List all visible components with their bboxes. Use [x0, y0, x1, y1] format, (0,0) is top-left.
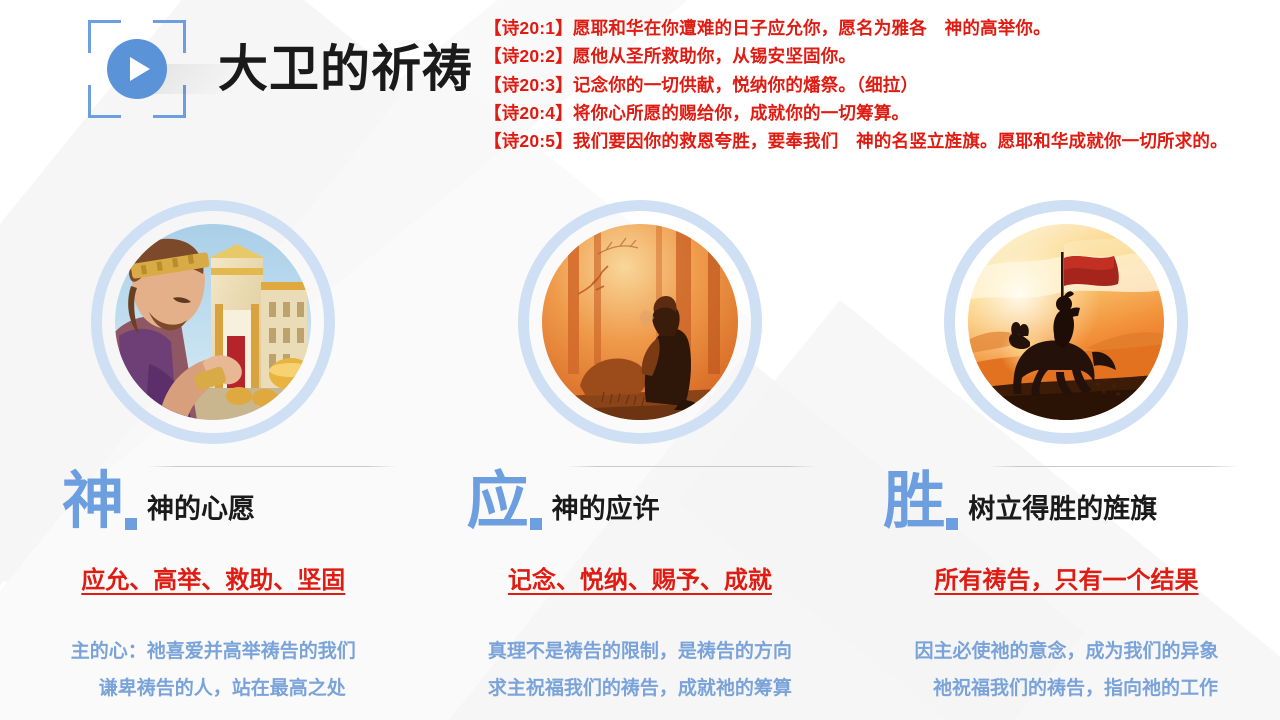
big-char-dot	[946, 518, 958, 530]
slide-canvas: 大卫的祈祷 【诗20:1】愿耶和华在你遭难的日子应允你，愿名为雅各 神的高举你。…	[0, 0, 1280, 720]
scripture-verse: 【诗20:1】愿耶和华在你遭难的日子应允你，愿名为雅各 神的高举你。	[484, 14, 1254, 42]
caption-ying: 应 神的应许	[427, 473, 854, 530]
scripture-verse: 【诗20:2】愿他从圣所救助你，从锡安坚固你。	[484, 42, 1254, 70]
frame-segment	[183, 20, 186, 53]
big-character: 神	[62, 473, 122, 530]
king-david-praying-temple-image	[115, 224, 311, 420]
big-char-dot	[530, 518, 542, 530]
column-sheng: 胜 树立得胜的旌旗 所有祷告，只有一个结果 因主必使祂的意念，成为我们的异象 祂…	[853, 200, 1280, 707]
note-line: 真理不是祷告的限制，是祷告的方向	[427, 633, 854, 670]
sub-label: 神的心愿	[147, 487, 255, 530]
sub-label: 树立得胜的旌旗	[968, 487, 1157, 530]
frame-segment	[153, 20, 186, 23]
circle-image-1	[91, 200, 335, 444]
circle-image-3	[944, 200, 1188, 444]
play-triangle-icon	[130, 57, 150, 81]
slide-header: 大卫的祈祷	[88, 20, 473, 118]
note-line: 祂祝福我们的祷告，指向祂的工作	[853, 670, 1280, 707]
page-title: 大卫的祈祷	[218, 44, 473, 94]
caption-shen: 神 神的心愿	[0, 473, 427, 530]
caption-divider	[567, 466, 817, 467]
big-char-dot	[125, 518, 137, 530]
note-block: 真理不是祷告的限制，是祷告的方向 求主祝福我们的祷告，成就祂的筹算	[427, 633, 854, 707]
note-line: 求主祝福我们的祷告，成就祂的筹算	[427, 670, 854, 707]
note-line: 主的心：祂喜爱并高举祷告的我们	[0, 633, 427, 670]
column-shen: 神 神的心愿 应允、高举、救助、坚固 主的心：祂喜爱并高举祷告的我们 谦卑祷告的…	[0, 200, 427, 707]
note-block: 主的心：祂喜爱并高举祷告的我们 谦卑祷告的人，站在最高之处	[0, 633, 427, 707]
note-line: 因主必使祂的意念，成为我们的异象	[853, 633, 1280, 670]
caption-sheng: 胜 树立得胜的旌旗	[853, 473, 1280, 530]
caption-divider	[988, 466, 1238, 467]
play-button-icon	[88, 20, 186, 118]
scripture-block: 【诗20:1】愿耶和华在你遭难的日子应允你，愿名为雅各 神的高举你。 【诗20:…	[484, 14, 1254, 156]
caption-divider	[147, 466, 397, 467]
person-kneeling-prayer-forest-image	[542, 224, 738, 420]
big-character: 胜	[883, 473, 943, 530]
scripture-verse: 【诗20:5】我们要因你的救恩夸胜，要奉我们 神的名竖立旌旗。愿耶和华成就你一切…	[484, 127, 1254, 155]
frame-segment	[88, 20, 121, 23]
play-circle	[107, 39, 167, 99]
frame-segment	[88, 85, 91, 118]
sub-label: 神的应许	[552, 487, 660, 530]
frame-segment	[88, 20, 91, 53]
column-ying: 应 神的应许 记念、悦纳、赐予、成就 真理不是祷告的限制，是祷告的方向 求主祝福…	[427, 200, 854, 707]
keyword-line: 所有祷告，只有一个结果	[853, 560, 1280, 595]
note-block: 因主必使祂的意念，成为我们的异象 祂祝福我们的祷告，指向祂的工作	[853, 633, 1280, 707]
keyword-line: 记念、悦纳、赐予、成就	[427, 560, 854, 595]
frame-segment	[88, 115, 121, 118]
keyword-line: 应允、高举、救助、坚固	[0, 560, 427, 595]
note-line: 谦卑祷告的人，站在最高之处	[0, 670, 427, 707]
content-columns: 神 神的心愿 应允、高举、救助、坚固 主的心：祂喜爱并高举祷告的我们 谦卑祷告的…	[0, 200, 1280, 707]
scripture-verse: 【诗20:3】记念你的一切供献，悦纳你的燔祭。（细拉）	[484, 71, 1254, 99]
horseman-with-banner-sunset-image	[968, 224, 1164, 420]
big-character: 应	[467, 473, 527, 530]
frame-segment	[153, 115, 186, 118]
scripture-verse: 【诗20:4】将你心所愿的赐给你，成就你的一切筹算。	[484, 99, 1254, 127]
circle-image-2	[518, 200, 762, 444]
